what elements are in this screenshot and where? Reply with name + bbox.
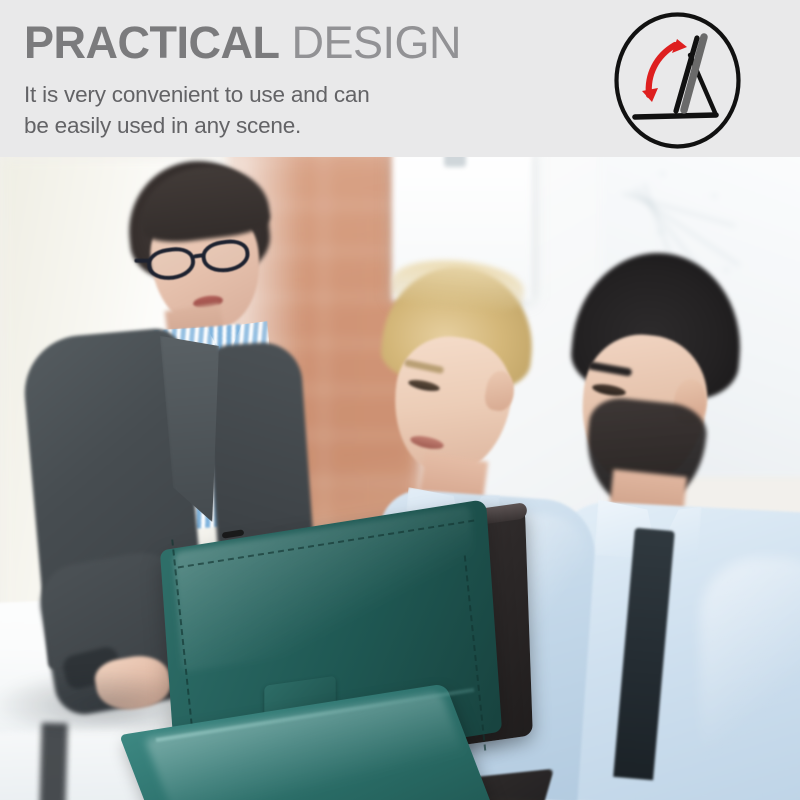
headline-strong-word: PRACTICAL xyxy=(24,17,279,68)
product-wallet-case xyxy=(0,157,800,800)
headline-light-word: DESIGN xyxy=(292,17,462,68)
product-marketing-banner: PRACTICAL DESIGN It is very convenient t… xyxy=(0,0,800,800)
lifestyle-photo: ~ ~ ~ ~ xyxy=(0,157,800,800)
kickstand-rotation-icon xyxy=(611,11,744,150)
header-text-block: PRACTICAL DESIGN It is very convenient t… xyxy=(24,16,544,141)
subtitle-line-2: be easily used in any scene. xyxy=(24,110,544,141)
page-subtitle: It is very convenient to use and can be … xyxy=(24,79,544,141)
header-band: PRACTICAL DESIGN It is very convenient t… xyxy=(0,0,800,157)
subtitle-line-1: It is very convenient to use and can xyxy=(24,79,544,110)
page-title: PRACTICAL DESIGN xyxy=(24,16,544,70)
